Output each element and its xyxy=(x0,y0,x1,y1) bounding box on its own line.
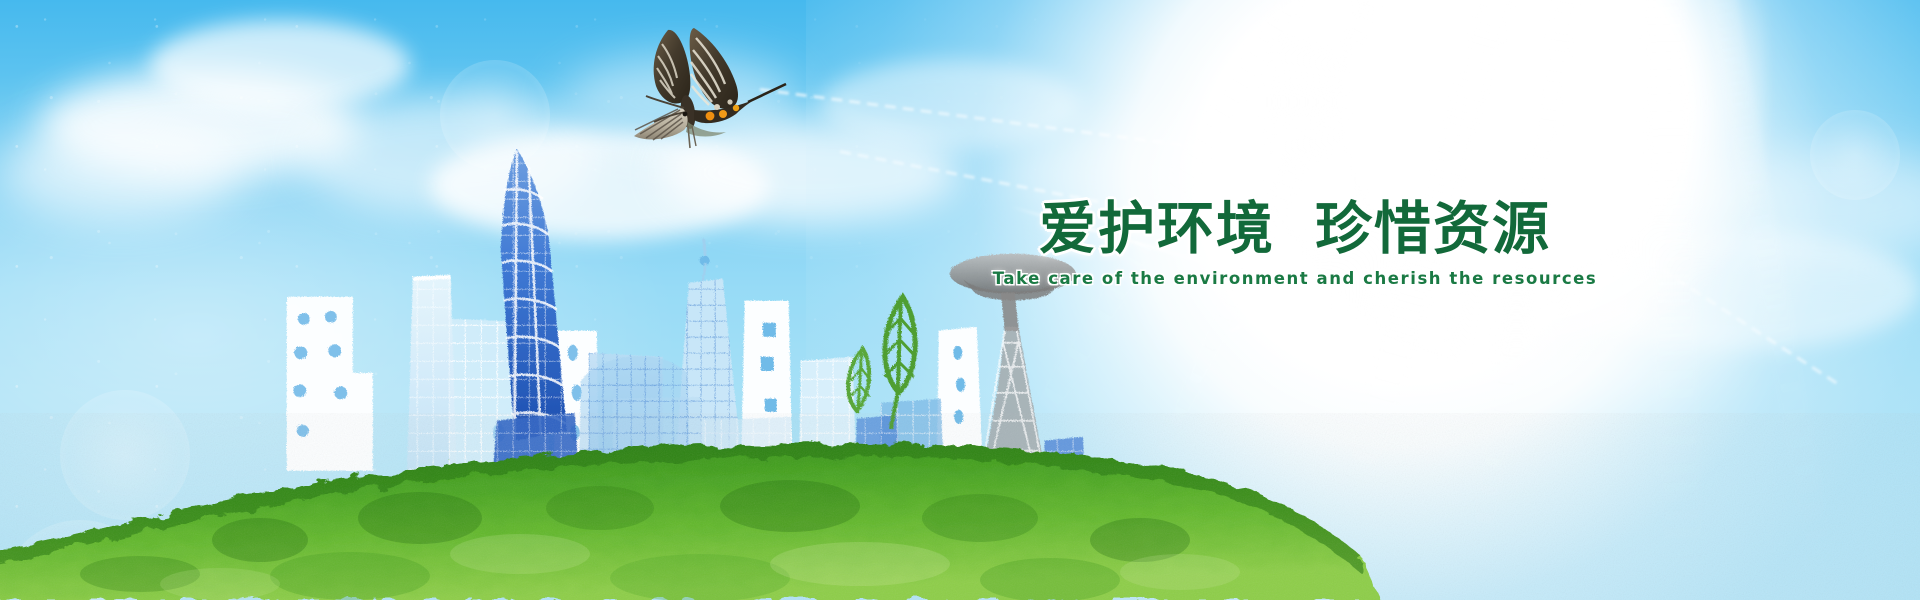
headline: 爱护环境珍惜资源 xyxy=(985,200,1605,258)
banner-text-block: 爱护环境珍惜资源 Take care of the environment an… xyxy=(985,200,1605,288)
subheadline: Take care of the environment and cherish… xyxy=(985,269,1605,288)
eco-banner: 爱护环境珍惜资源 Take care of the environment an… xyxy=(0,0,1920,600)
headline-part-2: 珍惜资源 xyxy=(1315,196,1551,262)
green-grass-hill xyxy=(0,340,1920,600)
headline-part-1: 爱护环境 xyxy=(1039,196,1275,262)
hill-noise-overlay xyxy=(0,430,1920,600)
